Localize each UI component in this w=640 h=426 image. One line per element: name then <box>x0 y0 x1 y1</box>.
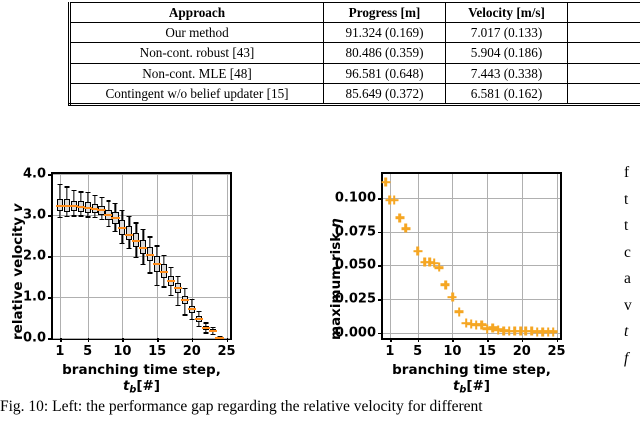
whisker-cap-lower <box>155 285 160 286</box>
whisker-cap-lower <box>85 216 90 217</box>
clipped-margin-text-column: fttcavtf <box>624 160 640 372</box>
whisker-cap-upper <box>57 184 62 185</box>
whisker-lower <box>129 240 130 247</box>
y-tick-label: 0.075 <box>335 224 376 239</box>
scatter-marker-plus <box>549 327 558 336</box>
chart-panel-right: maximum risk η 0.0000.0250.0500.0750.100… <box>312 150 612 390</box>
y-tick-mark <box>48 215 52 217</box>
right-chart-plot-area: 0.0000.0250.0500.0750.1001510152025 <box>381 172 562 340</box>
y-tick-label: 0.100 <box>335 191 376 206</box>
margin-text-fragment: f <box>624 346 640 373</box>
whisker-cap-lower <box>64 216 69 217</box>
cell-extra <box>568 83 640 104</box>
boxplot-box <box>133 174 139 338</box>
boxplot-box <box>64 174 70 338</box>
left-chart-x-axis-title: branching time step, tb[#] <box>51 362 232 395</box>
y-tick-label: 2.0 <box>23 249 46 264</box>
cell-velocity: 6.581 (0.162) <box>446 83 568 104</box>
x-tick-label: 20 <box>183 344 201 359</box>
column-header-extra <box>568 3 640 23</box>
x-tick-mark <box>122 338 124 342</box>
whisker-upper <box>108 200 109 209</box>
gridline-horizontal <box>53 338 230 339</box>
margin-text-fragment: a <box>624 266 640 293</box>
x-tick-label: 25 <box>547 344 565 359</box>
whisker-lower <box>122 235 123 243</box>
whisker-cap-lower <box>57 217 62 218</box>
boxplot-box <box>203 174 209 338</box>
whisker-cap-upper <box>92 195 97 196</box>
y-tick-mark <box>48 256 52 258</box>
whisker-cap-lower <box>78 215 83 216</box>
x-tick-mark <box>192 338 194 342</box>
whisker-cap-lower <box>175 305 180 306</box>
gridline-horizontal <box>383 265 560 266</box>
whisker-cap-upper <box>175 276 180 277</box>
x-tick-label: 25 <box>217 344 235 359</box>
boxplot-box <box>189 174 195 338</box>
y-tick-label: 0.000 <box>335 325 376 340</box>
whisker-cap-upper <box>64 186 69 187</box>
boxplot-box <box>147 174 153 338</box>
gridline-vertical <box>418 174 419 338</box>
boxplot-box <box>92 174 98 338</box>
y-tick-mark <box>48 174 52 176</box>
boxplot-box <box>154 174 160 338</box>
whisker-lower <box>150 261 151 272</box>
boxplot-box <box>112 174 118 338</box>
whisker-upper <box>115 203 116 212</box>
cell-progress: 91.324 (0.169) <box>324 23 446 43</box>
boxplot-box <box>98 174 104 338</box>
results-table: Approach Progress [m] Velocity [m/s] Our… <box>68 2 640 106</box>
median-line <box>174 287 182 289</box>
whisker-lower <box>143 254 144 264</box>
cell-progress: 85.649 (0.372) <box>324 83 446 104</box>
y-tick-label: 0.050 <box>335 258 376 273</box>
x-tick-label: 1 <box>55 344 64 359</box>
whisker-cap-lower <box>148 272 153 273</box>
whisker-upper <box>66 186 67 199</box>
whisker-cap-lower <box>120 243 125 244</box>
x-tick-mark <box>157 338 159 342</box>
table-header: Approach Progress [m] Velocity [m/s] <box>70 3 640 23</box>
table-header-row: Approach Progress [m] Velocity [m/s] <box>70 3 640 23</box>
x-tick-label: 5 <box>413 344 422 359</box>
x-tick-mark <box>88 338 90 342</box>
whisker-upper <box>156 245 157 256</box>
whisker-cap-upper <box>196 311 201 312</box>
table-body: Our method91.324 (0.169)7.017 (0.133)Non… <box>70 23 640 105</box>
whisker-lower <box>156 272 157 285</box>
whisker-cap-lower <box>113 231 118 232</box>
x-tick-mark <box>227 338 229 342</box>
table-row: Contingent w/o belief updater [15]85.649… <box>70 83 640 104</box>
scatter-marker-plus <box>401 224 410 233</box>
y-tick-mark <box>378 265 382 267</box>
whisker-upper <box>170 267 171 276</box>
results-table-container: Approach Progress [m] Velocity [m/s] Our… <box>68 2 640 106</box>
cell-approach: Non-cont. robust [43] <box>70 43 324 63</box>
whisker-cap-lower <box>189 319 194 320</box>
figure-10: relative velocity v 0.01.02.03.04.015101… <box>0 150 640 390</box>
whisker-cap-lower <box>141 264 146 265</box>
whisker-upper <box>73 190 74 201</box>
whisker-cap-upper <box>134 222 139 223</box>
margin-text-fragment: t <box>624 319 640 346</box>
whisker-upper <box>87 192 88 202</box>
boxplot-box <box>182 174 188 338</box>
whisker-cap-lower <box>203 332 208 333</box>
whisker-cap-upper <box>106 200 111 201</box>
cell-velocity: 5.904 (0.186) <box>446 43 568 63</box>
whisker-cap-upper <box>99 197 104 198</box>
whisker-cap-lower <box>182 314 187 315</box>
whisker-upper <box>122 210 123 220</box>
boxplot-box <box>119 174 125 338</box>
whisker-upper <box>136 222 137 233</box>
y-tick-mark <box>378 299 382 301</box>
x-tick-mark <box>390 338 392 342</box>
table-row: Non-cont. robust [43]80.486 (0.359)5.904… <box>70 43 640 63</box>
gridline-horizontal <box>383 299 560 300</box>
scatter-marker-plus <box>441 280 450 289</box>
margin-text-fragment: t <box>624 187 640 214</box>
whisker-upper <box>163 255 164 264</box>
gridline-vertical <box>452 174 453 338</box>
gridline-vertical <box>227 174 228 338</box>
whisker-upper <box>80 191 81 201</box>
cell-approach: Our method <box>70 23 324 43</box>
margin-text-fragment: t <box>624 213 640 240</box>
scatter-marker-plus <box>395 213 404 222</box>
cell-approach: Non-cont. MLE [48] <box>70 63 324 83</box>
scatter-marker-plus <box>381 178 390 187</box>
median-line <box>146 254 154 256</box>
boxplot-box <box>126 174 132 338</box>
whisker-cap-upper <box>141 229 146 230</box>
left-chart-plot-area: 0.01.02.03.04.01510152025 <box>51 172 232 340</box>
boxplot-box <box>78 174 84 338</box>
whisker-cap-lower <box>99 219 104 220</box>
cell-approach: Contingent w/o belief updater [15] <box>70 83 324 104</box>
table-row: Non-cont. MLE [48]96.581 (0.648)7.443 (0… <box>70 63 640 83</box>
whisker-cap-upper <box>182 288 187 289</box>
y-tick-mark <box>48 297 52 299</box>
boxplot-box <box>210 174 216 338</box>
y-tick-mark <box>378 333 382 335</box>
whisker-cap-upper <box>78 191 83 192</box>
whisker-cap-lower <box>169 295 174 296</box>
whisker-cap-lower <box>106 226 111 227</box>
whisker-upper <box>59 184 60 199</box>
chart-panel-left: relative velocity v 0.01.02.03.04.015101… <box>0 150 300 390</box>
whisker-upper <box>143 229 144 240</box>
y-tick-label: 3.0 <box>23 208 46 223</box>
whisker-upper <box>150 236 151 247</box>
whisker-cap-lower <box>210 334 215 335</box>
x-tick-mark <box>452 338 454 342</box>
gridline-horizontal <box>383 198 560 199</box>
whisker-cap-upper <box>203 322 208 323</box>
whisker-cap-lower <box>92 217 97 218</box>
y-tick-label: 0.025 <box>335 292 376 307</box>
whisker-cap-upper <box>127 216 132 217</box>
whisker-cap-lower <box>134 257 139 258</box>
boxplot-box <box>168 174 174 338</box>
median-line <box>202 327 210 329</box>
x-tick-label: 5 <box>83 344 92 359</box>
scatter-marker-plus <box>435 263 444 272</box>
cell-progress: 96.581 (0.648) <box>324 63 446 83</box>
whisker-cap-upper <box>148 236 153 237</box>
whisker-cap-upper <box>85 192 90 193</box>
y-tick-label: 0.0 <box>23 331 46 346</box>
x-tick-label: 15 <box>478 344 496 359</box>
x-tick-label: 10 <box>443 344 461 359</box>
x-tick-label: 10 <box>113 344 131 359</box>
boxplot-box <box>85 174 91 338</box>
whisker-cap-upper <box>120 210 125 211</box>
boxplot-box <box>57 174 63 338</box>
gridline-vertical <box>487 174 488 338</box>
median-line <box>215 337 223 339</box>
scatter-marker-plus <box>448 293 457 302</box>
x-tick-mark <box>487 338 489 342</box>
cell-velocity: 7.017 (0.133) <box>446 23 568 43</box>
whisker-cap-upper <box>155 245 160 246</box>
margin-text-fragment: v <box>624 293 640 320</box>
y-tick-mark <box>378 198 382 200</box>
cell-velocity: 7.443 (0.338) <box>446 63 568 83</box>
whisker-cap-upper <box>189 299 194 300</box>
whisker-lower <box>177 293 178 305</box>
whisker-cap-lower <box>196 326 201 327</box>
x-tick-mark <box>418 338 420 342</box>
x-tick-mark <box>60 338 62 342</box>
y-tick-mark <box>48 338 52 340</box>
figure-caption: Fig. 10: Left: the performance gap regar… <box>0 398 640 417</box>
whisker-upper <box>94 195 95 205</box>
scatter-marker-plus <box>390 196 399 205</box>
x-tick-label: 1 <box>385 344 394 359</box>
boxplot-box <box>175 174 181 338</box>
boxplot-box <box>161 174 167 338</box>
whisker-upper <box>129 216 130 227</box>
x-tick-label: 20 <box>513 344 531 359</box>
left-chart-y-axis-title: relative velocity v <box>10 203 26 340</box>
scatter-marker-plus <box>455 307 464 316</box>
gridline-vertical <box>522 174 523 338</box>
boxplot-box <box>71 174 77 338</box>
y-tick-label: 1.0 <box>23 290 46 305</box>
column-header-approach: Approach <box>70 3 324 23</box>
boxplot-box <box>196 174 202 338</box>
margin-text-fragment: f <box>624 160 640 187</box>
cell-extra <box>568 23 640 43</box>
x-tick-mark <box>557 338 559 342</box>
whisker-cap-upper <box>169 267 174 268</box>
x-tick-mark <box>522 338 524 342</box>
whisker-cap-lower <box>71 215 76 216</box>
whisker-cap-upper <box>71 190 76 191</box>
gridline-vertical <box>557 174 558 338</box>
y-tick-label: 4.0 <box>23 167 46 182</box>
boxplot-box <box>216 174 222 338</box>
cell-extra <box>568 43 640 63</box>
boxplot-box <box>105 174 111 338</box>
median-line <box>118 227 126 229</box>
column-header-progress: Progress [m] <box>324 3 446 23</box>
whisker-lower <box>136 247 137 257</box>
cell-progress: 80.486 (0.359) <box>324 43 446 63</box>
whisker-lower <box>115 224 116 231</box>
table-row: Our method91.324 (0.169)7.017 (0.133) <box>70 23 640 43</box>
whisker-lower <box>170 286 171 295</box>
whisker-cap-upper <box>210 327 215 328</box>
scatter-marker-plus <box>413 247 422 256</box>
whisker-cap-lower <box>127 248 132 249</box>
right-chart-x-axis-title: branching time step, tb[#] <box>381 362 562 395</box>
whisker-lower <box>184 304 185 314</box>
x-tick-label: 15 <box>148 344 166 359</box>
whisker-cap-upper <box>113 203 118 204</box>
whisker-cap-lower <box>162 286 167 287</box>
y-tick-mark <box>378 232 382 234</box>
whisker-lower <box>163 278 164 287</box>
whisker-cap-upper <box>162 255 167 256</box>
column-header-velocity: Velocity [m/s] <box>446 3 568 23</box>
margin-text-fragment: c <box>624 240 640 267</box>
cell-extra <box>568 63 640 83</box>
